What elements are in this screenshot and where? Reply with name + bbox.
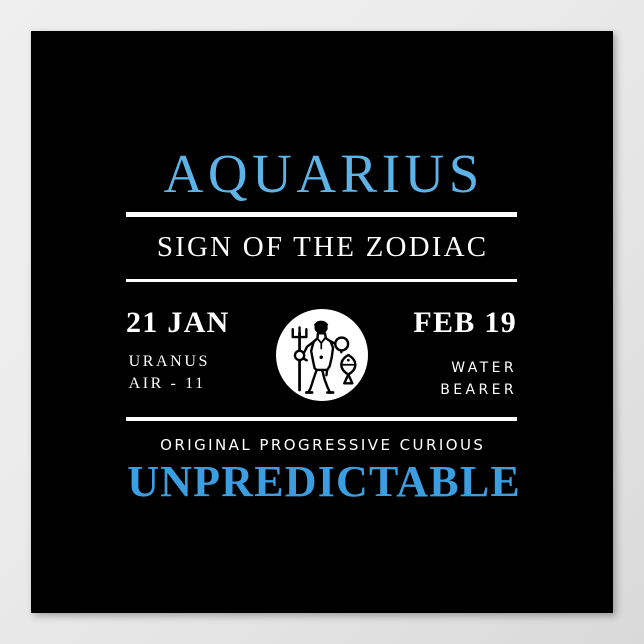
poster-preview-canvas: AQUARIUS SIGN OF THE ZODIAC 21 JAN URANU… [0, 0, 644, 644]
detail-left-column: 21 JAN URANUS AIR - 11 [126, 290, 272, 395]
divider-top [126, 212, 517, 217]
divider-middle [126, 279, 517, 282]
element-label: AIR - 11 [126, 373, 272, 395]
symbol-name-line-2: BEARER [371, 379, 517, 401]
symbol-name-line-1: WATER [371, 357, 517, 379]
poster-subtitle: SIGN OF THE ZODIAC [126, 230, 517, 264]
end-date-label: FEB 19 [371, 305, 517, 341]
keyword-label: UNPREDICTABLE [126, 457, 517, 507]
zodiac-poster[interactable]: AQUARIUS SIGN OF THE ZODIAC 21 JAN URANU… [31, 31, 613, 613]
divider-bottom [126, 417, 517, 421]
poster-detail-row: 21 JAN URANUS AIR - 11 [126, 290, 517, 414]
aquarius-water-bearer-emblem-icon [276, 309, 368, 401]
page-title: AQUARIUS [126, 145, 517, 203]
traits-tagline: ORIGINAL PROGRESSIVE CURIOUS [126, 435, 517, 455]
poster-content: AQUARIUS SIGN OF THE ZODIAC 21 JAN URANU… [126, 31, 517, 613]
detail-right-column: FEB 19 WATER BEARER [371, 290, 517, 401]
start-date-label: 21 JAN [126, 305, 272, 341]
ruling-planet-label: URANUS [126, 351, 272, 373]
